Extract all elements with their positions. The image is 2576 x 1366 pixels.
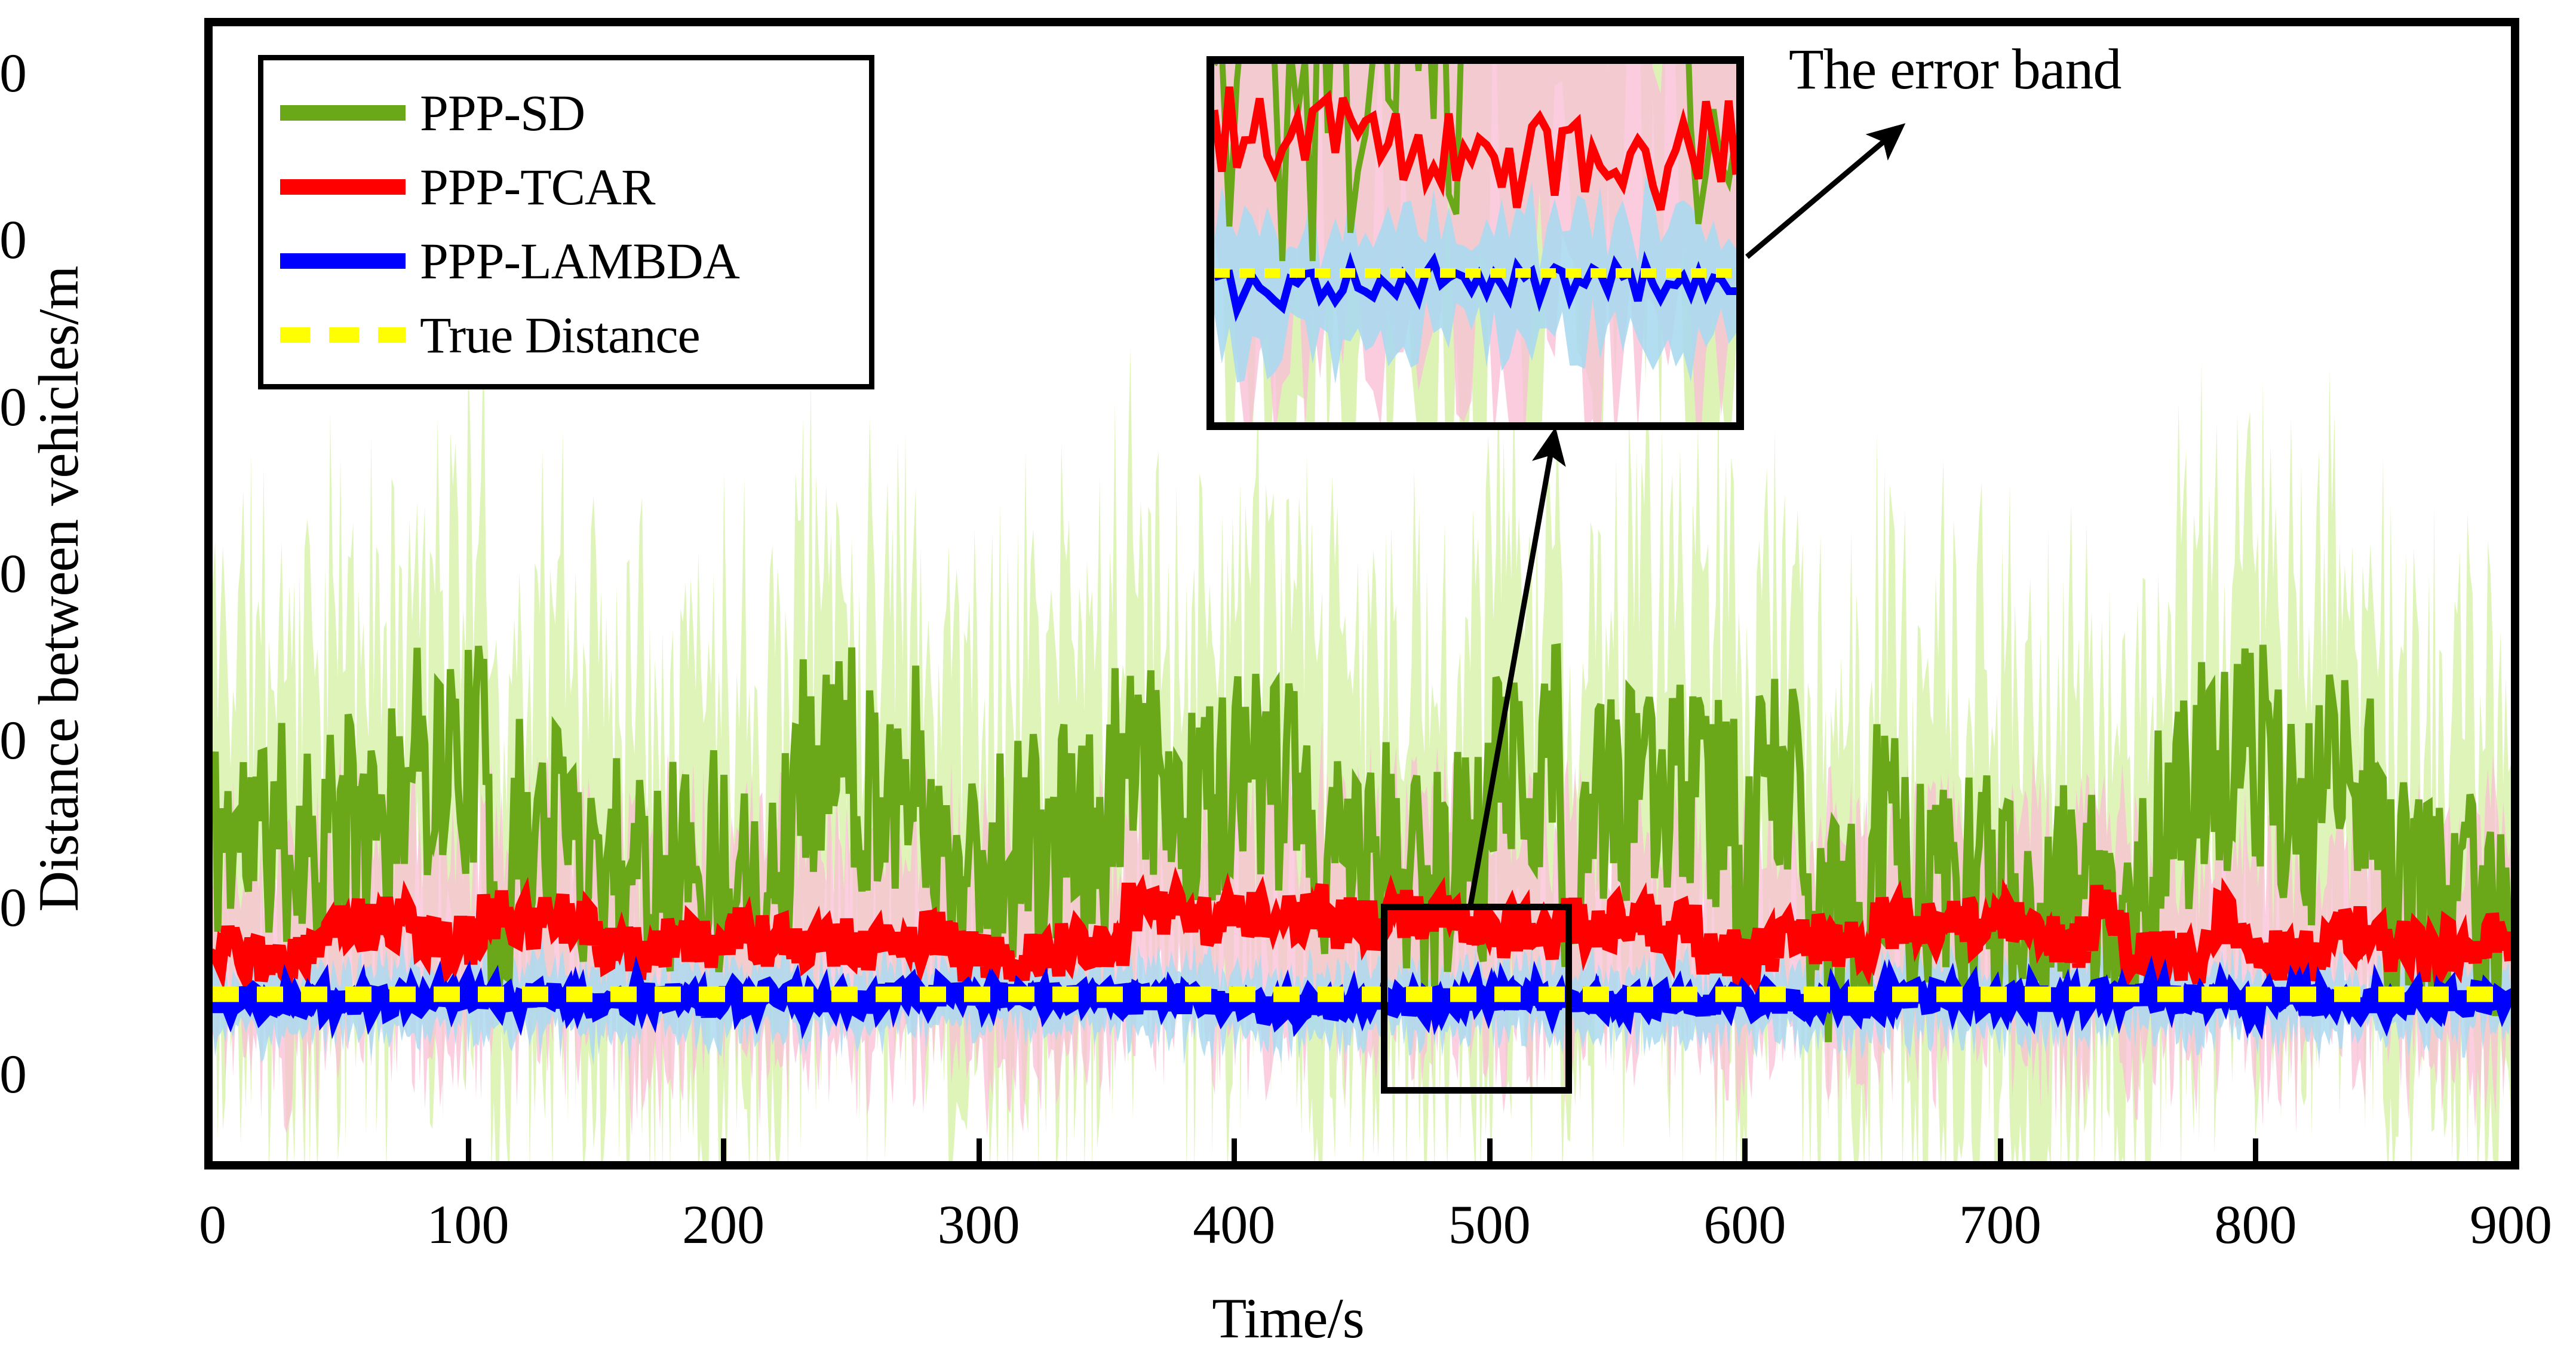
x-tick-label: 800 xyxy=(2166,1197,2345,1252)
legend-label: True Distance xyxy=(420,305,700,365)
legend-label: PPP-SD xyxy=(420,83,585,143)
x-tick-label: 600 xyxy=(1655,1197,1834,1252)
legend: PPP-SDPPP-TCARPPP-LAMBDATrue Distance xyxy=(258,55,874,389)
chart-root: Distance between vehicles/m 010203040506… xyxy=(0,0,2576,1366)
y-tick-label: 0 xyxy=(0,1046,27,1101)
legend-item-ppp-sd[interactable]: PPP-SD xyxy=(263,76,869,150)
x-tick-label: 400 xyxy=(1144,1197,1324,1252)
x-tick-label: 900 xyxy=(2421,1197,2576,1252)
legend-swatch-icon xyxy=(280,327,406,343)
x-tick-mark xyxy=(1232,1138,1237,1169)
x-tick-label: 300 xyxy=(889,1197,1069,1252)
x-tick-label: 0 xyxy=(123,1197,302,1252)
zoom-region-box[interactable] xyxy=(1381,904,1572,1094)
x-tick-mark xyxy=(977,1138,982,1169)
x-tick-mark xyxy=(2253,1138,2258,1169)
x-tick-label: 500 xyxy=(1400,1197,1579,1252)
x-tick-mark xyxy=(721,1138,726,1169)
y-tick-label: 20 xyxy=(0,713,27,768)
legend-label: PPP-LAMBDA xyxy=(420,231,739,291)
x-tick-mark xyxy=(1998,1138,2003,1169)
legend-item-true-distance[interactable]: True Distance xyxy=(263,298,869,372)
x-tick-mark xyxy=(1487,1138,1493,1169)
x-tick-mark xyxy=(1742,1138,1748,1169)
legend-swatch-icon xyxy=(280,105,406,121)
legend-swatch-icon xyxy=(280,179,406,195)
legend-item-ppp-tcar[interactable]: PPP-TCAR xyxy=(263,150,869,224)
zoom-inset-panel xyxy=(1206,56,1744,430)
y-tick-label: 60 xyxy=(0,45,27,100)
x-tick-label: 100 xyxy=(379,1197,558,1252)
y-tick-label: 40 xyxy=(0,379,27,434)
y-tick-label: 50 xyxy=(0,212,27,267)
error-band-annotation-label: The error band xyxy=(1789,36,2121,102)
y-axis-title: Distance between vehicles/m xyxy=(30,81,87,1097)
legend-label: PPP-TCAR xyxy=(420,157,655,217)
y-tick-label: 30 xyxy=(0,546,27,601)
legend-item-ppp-lambda[interactable]: PPP-LAMBDA xyxy=(263,224,869,298)
y-tick-label: 10 xyxy=(0,880,27,935)
x-axis-title: Time/s xyxy=(0,1285,2576,1351)
inset-series-svg xyxy=(1214,64,1736,422)
x-tick-mark xyxy=(466,1138,471,1169)
legend-swatch-icon xyxy=(280,253,406,269)
x-tick-label: 200 xyxy=(634,1197,813,1252)
x-tick-label: 700 xyxy=(1911,1197,2090,1252)
